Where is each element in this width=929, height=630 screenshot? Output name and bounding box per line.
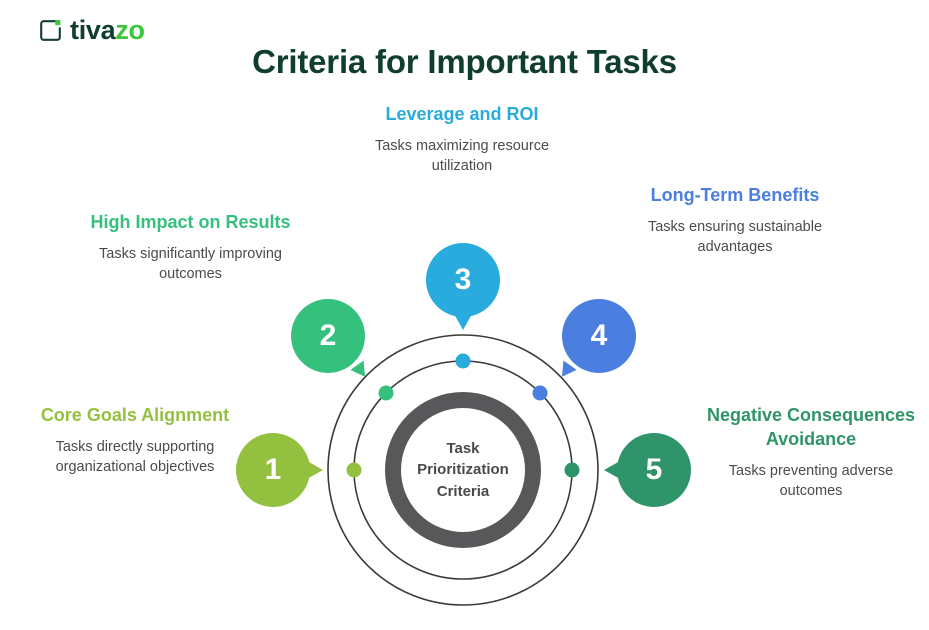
criterion-title-4: Long-Term Benefits [645, 184, 825, 208]
hub-line-2: Prioritization [388, 459, 538, 480]
criterion-desc-1: Tasks directly supporting organizational… [40, 437, 230, 478]
criterion-title-1: Core Goals Alignment [40, 404, 230, 428]
step-bubble-1[interactable]: 1 [236, 433, 310, 507]
criterion-title-3: Leverage and ROI [366, 103, 558, 127]
criterion-label-3: Leverage and ROITasks maximizing resourc… [366, 103, 558, 177]
step-bubble-2[interactable]: 2 [291, 299, 365, 373]
step-number-3: 3 [455, 263, 472, 297]
step-number-5: 5 [646, 453, 663, 487]
step-number-2: 2 [320, 319, 337, 353]
circular-infographic: Task Prioritization Criteria 1Core Goals… [0, 0, 929, 630]
bubble-pointer [604, 461, 620, 479]
ring-dot-4 [533, 386, 548, 401]
criterion-desc-5: Tasks preventing adverse outcomes [700, 461, 922, 502]
criterion-desc-4: Tasks ensuring sustainable advantages [645, 217, 825, 258]
ring-dot-2 [379, 386, 394, 401]
ring-dot-5 [565, 463, 580, 478]
step-number-1: 1 [265, 453, 282, 487]
criterion-label-5: Negative Consequences AvoidanceTasks pre… [700, 404, 922, 502]
ring-dot-1 [347, 463, 362, 478]
criterion-label-1: Core Goals AlignmentTasks directly suppo… [40, 404, 230, 478]
criterion-title-2: High Impact on Results [86, 211, 295, 235]
criterion-desc-3: Tasks maximizing resource utilization [366, 136, 558, 177]
step-number-4: 4 [591, 319, 608, 353]
hub-line-3: Criteria [388, 481, 538, 502]
criterion-label-4: Long-Term BenefitsTasks ensuring sustain… [645, 184, 825, 258]
ring-dot-3 [456, 354, 471, 369]
criterion-label-2: High Impact on ResultsTasks significantl… [86, 211, 295, 285]
bubble-pointer [454, 314, 472, 330]
step-bubble-4[interactable]: 4 [562, 299, 636, 373]
step-bubble-5[interactable]: 5 [617, 433, 691, 507]
criterion-title-5: Negative Consequences Avoidance [700, 404, 922, 452]
criterion-desc-2: Tasks significantly improving outcomes [86, 244, 295, 285]
hub-label: Task Prioritization Criteria [388, 438, 538, 502]
step-bubble-3[interactable]: 3 [426, 243, 500, 317]
hub-line-1: Task [388, 438, 538, 459]
bubble-pointer [307, 461, 323, 479]
